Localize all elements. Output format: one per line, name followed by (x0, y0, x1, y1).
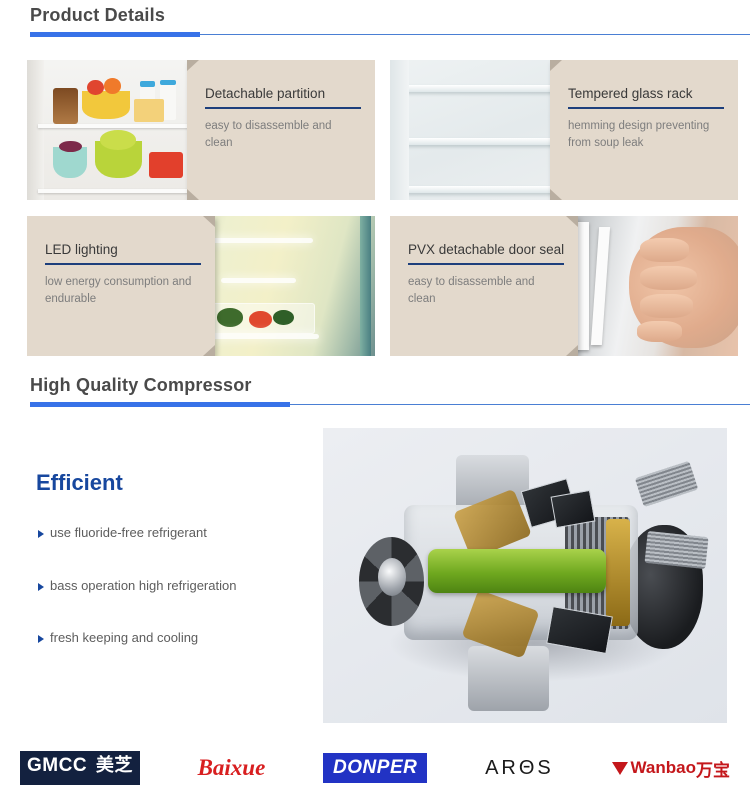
bullet-item-2: fresh keeping and cooling (38, 630, 198, 645)
section-rule-thick (30, 402, 290, 407)
feature-description: low energy consumption and endurable (45, 274, 201, 310)
bullet-label: bass operation high refrigeration (50, 578, 236, 593)
bullet-item-1: bass operation high refrigeration (38, 578, 236, 593)
brand-logo-ares-text: ARΘS (485, 757, 554, 780)
panel-notch-icon (187, 189, 199, 200)
feature-description: easy to disassemble and clean (408, 274, 564, 310)
right-triangle-bullet-icon (38, 635, 44, 643)
brand-logo-baixue[interactable]: Baixue (198, 750, 266, 786)
bullet-label: fresh keeping and cooling (50, 630, 198, 645)
feature-card-panel: Tempered glass rack hemming design preve… (550, 60, 738, 200)
brand-logo-strip: GMCC 美芝 Baixue DONPER ARΘS Wanbao 万宝 (0, 750, 750, 786)
feature-card-pvx-door-seal[interactable]: PVX detachable door seal easy to disasse… (390, 216, 738, 356)
feature-title: Tempered glass rack (568, 86, 724, 107)
feature-title: Detachable partition (205, 86, 361, 107)
feature-card-panel: PVX detachable door seal easy to disasse… (390, 216, 578, 356)
brand-logo-baixue-text: Baixue (198, 755, 266, 781)
panel-notch-icon (550, 189, 562, 200)
brand-logo-donper-text: DONPER (323, 753, 427, 783)
feature-title-underline (45, 263, 201, 265)
feature-card-led-lighting[interactable]: LED lighting low energy consumption and … (27, 216, 375, 356)
feature-card-panel: LED lighting low energy consumption and … (27, 216, 215, 356)
feature-title-underline (568, 107, 724, 109)
brand-logo-gmcc-text-cn: 美芝 (96, 755, 133, 775)
panel-notch-icon (566, 216, 578, 227)
feature-card-tempered-glass-rack[interactable]: Tempered glass rack hemming design preve… (390, 60, 738, 200)
feature-description: easy to disassemble and clean (205, 118, 361, 154)
cutaway-compressor-render-photo (323, 428, 727, 723)
brand-logo-wanbao-text-cn: 万宝 (696, 756, 730, 781)
brand-logo-gmcc-text: GMCC (27, 755, 87, 776)
section-title: High Quality Compressor (0, 375, 750, 396)
bullet-item-0: use fluoride-free refrigerant (38, 525, 207, 540)
panel-notch-icon (187, 60, 199, 71)
feature-title-underline (205, 107, 361, 109)
panel-notch-icon (550, 60, 562, 71)
section-header-high-quality-compressor: High Quality Compressor (0, 375, 750, 408)
wanbao-triangle-icon (612, 762, 628, 775)
section-header-product-details: Product Details (0, 5, 750, 38)
section-rule (0, 402, 750, 408)
panel-notch-icon (203, 216, 215, 227)
brand-logo-gmcc[interactable]: GMCC 美芝 (20, 750, 140, 786)
product-detail-page: Product Details (0, 0, 750, 800)
page-title: Product Details (0, 5, 750, 26)
section-rule (0, 32, 750, 38)
bullet-label: use fluoride-free refrigerant (50, 525, 207, 540)
panel-notch-icon (203, 345, 215, 356)
feature-title-underline (408, 263, 564, 265)
led-lit-fridge-interior-photo (187, 216, 375, 356)
brand-logo-wanbao[interactable]: Wanbao 万宝 (612, 750, 730, 786)
feature-card-detachable-partition[interactable]: Detachable partition easy to disassemble… (27, 60, 375, 200)
brand-logo-donper[interactable]: DONPER (323, 750, 427, 786)
feature-title: PVX detachable door seal (408, 242, 564, 263)
feature-title: LED lighting (45, 242, 201, 263)
brand-logo-ares[interactable]: ARΘS (485, 750, 554, 786)
panel-notch-icon (566, 345, 578, 356)
right-triangle-bullet-icon (38, 530, 44, 538)
brand-logo-wanbao-text: Wanbao (631, 758, 696, 778)
feature-description: hemming design preventing from soup leak (568, 118, 724, 154)
efficient-heading: Efficient (36, 470, 123, 496)
right-triangle-bullet-icon (38, 583, 44, 591)
hand-pulling-door-seal-photo (550, 216, 738, 356)
feature-card-panel: Detachable partition easy to disassemble… (187, 60, 375, 200)
section-rule-thick (30, 32, 200, 37)
